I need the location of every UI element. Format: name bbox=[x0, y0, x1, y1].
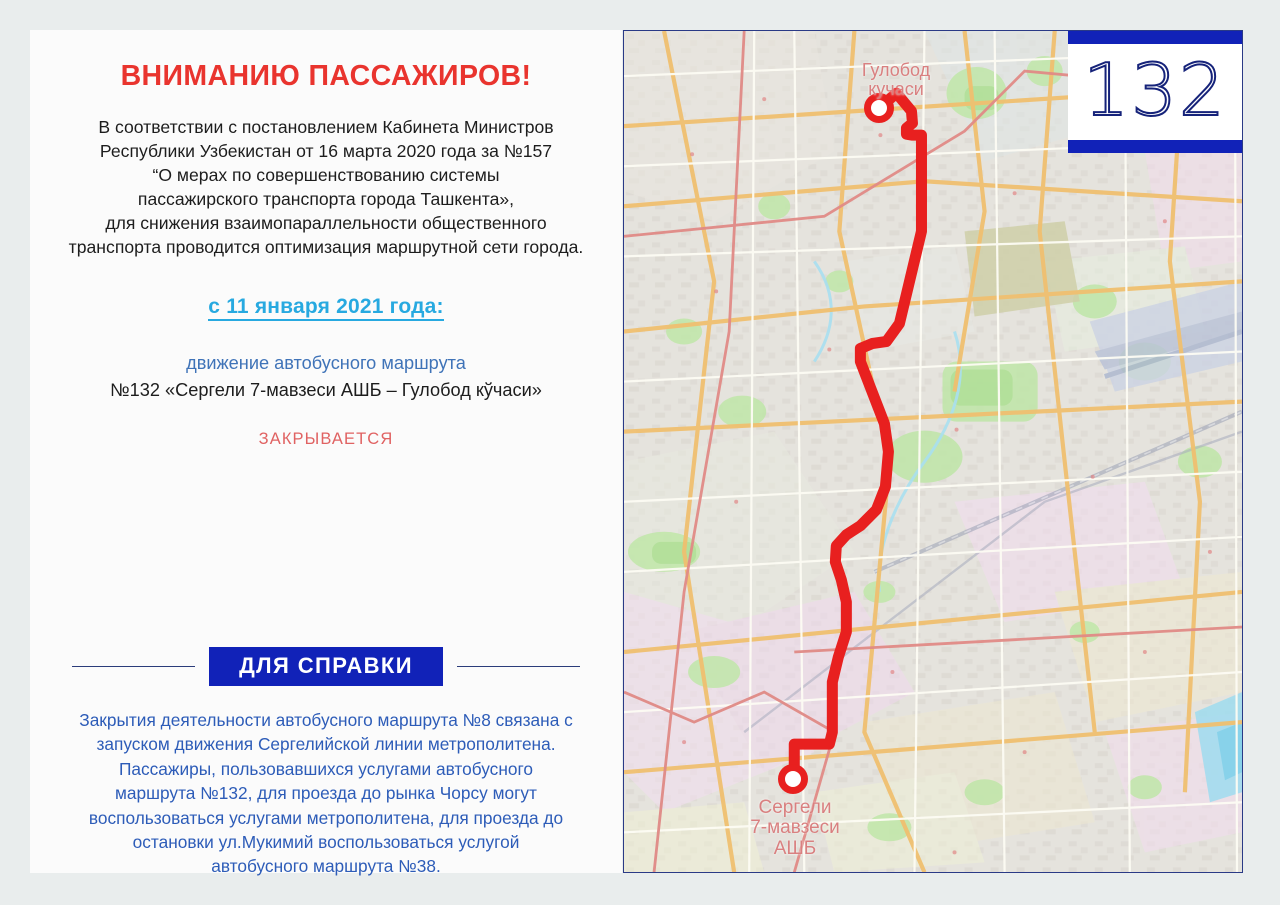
intro-line: В соответствии с постановлением Кабинета… bbox=[52, 116, 600, 140]
footnote-line: Пассажиры, пользовавшихся услугами автоб… bbox=[68, 757, 584, 781]
status-badge: ЗАКРЫВАЕТСЯ bbox=[44, 430, 608, 449]
footnote-line: маршрута №132, для проезда до рынка Чорс… bbox=[68, 781, 584, 805]
bus-route-line bbox=[624, 31, 1242, 872]
divider-left bbox=[72, 666, 195, 668]
terminal-marker-south bbox=[778, 764, 808, 794]
footnote-line: остановки ул.Мукимий воспользоваться усл… bbox=[68, 830, 584, 854]
footnote-line: воспользоваться услугами метрополитена, … bbox=[68, 806, 584, 830]
reference-badge: ДЛЯ СПРАВКИ bbox=[209, 647, 443, 686]
terminal-marker-north bbox=[864, 93, 894, 123]
divider-right bbox=[457, 666, 580, 668]
page-title: ВНИМАНИЮ ПАССАЖИРОВ! bbox=[44, 61, 608, 92]
intro-line: “О мерах по совершенствованию системы bbox=[52, 164, 600, 188]
route-intro-label: движение автобусного маршрута bbox=[44, 351, 608, 376]
intro-line: Республики Узбекистан от 16 марта 2020 г… bbox=[52, 140, 600, 164]
route-number-badge: 132 bbox=[1068, 31, 1242, 153]
route-block: движение автобусного маршрута №132 «Серг… bbox=[44, 351, 608, 403]
intro-line: транспорта проводится оптимизация маршру… bbox=[52, 236, 600, 260]
text-panel: ВНИМАНИЮ ПАССАЖИРОВ! В соответствии с по… bbox=[30, 30, 622, 873]
footnote-paragraph: Закрытия деятельности автобусного маршру… bbox=[30, 708, 622, 879]
intro-line: для снижения взаимопараллельности общест… bbox=[52, 212, 600, 236]
footnote-line: автобусного маршрута №38. bbox=[68, 854, 584, 878]
intro-line: пассажирского транспорта города Ташкента… bbox=[52, 188, 600, 212]
footnote-line: запуском движения Сергелийской линии мет… bbox=[68, 732, 584, 756]
effective-date: с 11 января 2021 года: bbox=[44, 295, 608, 319]
route-map[interactable]: Гулобод кучаси Сергели 7-мавзеси АШБ 132 bbox=[623, 30, 1243, 873]
route-name-label: №132 «Сергели 7-мавзеси АШБ – Гулобод кў… bbox=[44, 378, 608, 403]
intro-paragraph: В соответствии с постановлением Кабинета… bbox=[44, 116, 608, 260]
route-number-text: 132 bbox=[1083, 54, 1226, 130]
footnote-line: Закрытия деятельности автобусного маршру… bbox=[68, 708, 584, 732]
poster-card: ВНИМАНИЮ ПАССАЖИРОВ! В соответствии с по… bbox=[30, 30, 622, 873]
reference-header: ДЛЯ СПРАВКИ bbox=[30, 647, 622, 686]
effective-date-text: с 11 января 2021 года: bbox=[208, 295, 443, 321]
